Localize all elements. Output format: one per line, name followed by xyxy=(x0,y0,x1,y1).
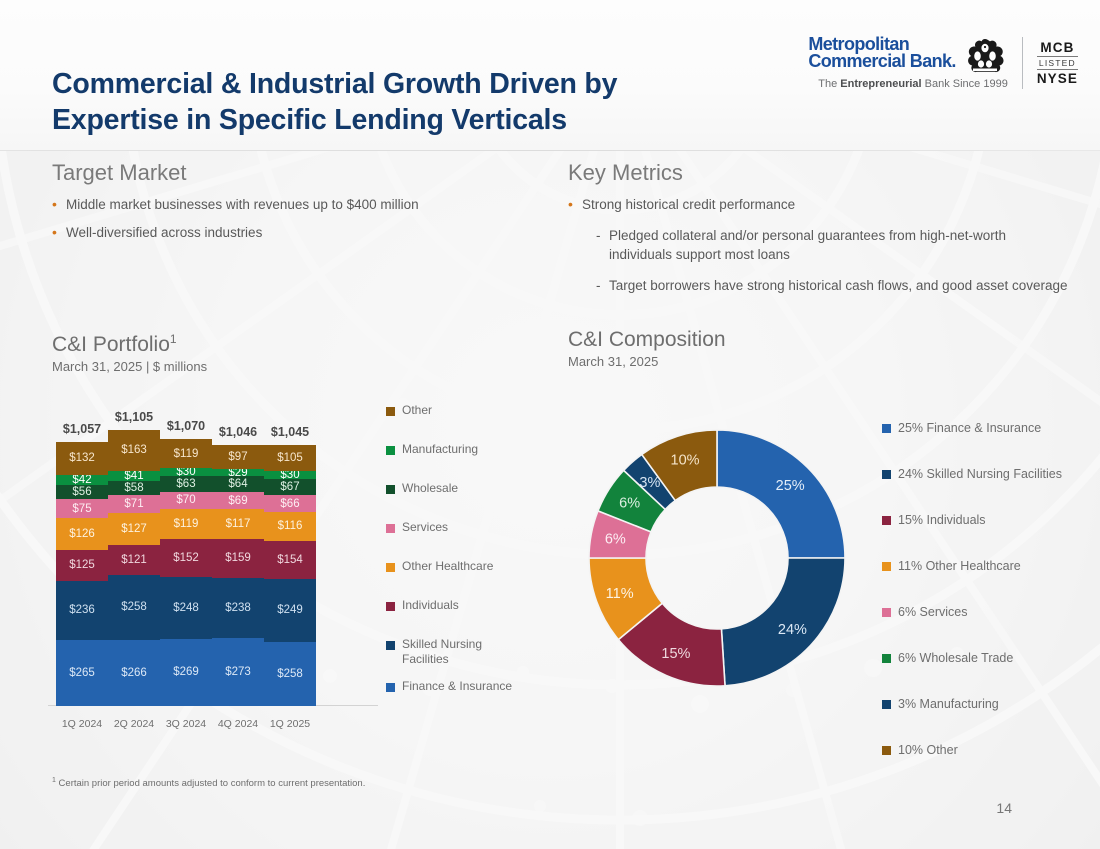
legend-swatch-icon xyxy=(882,470,891,479)
legend-item-label: 3% Manufacturing xyxy=(898,697,999,712)
bar-segment: $30 xyxy=(160,468,212,475)
bar-segment: $154 xyxy=(264,541,316,579)
target-market-bullet: • Middle market businesses with revenues… xyxy=(52,195,542,214)
footnote-text: Certain prior period amounts adjusted to… xyxy=(59,778,366,789)
key-metrics-bullet-text: Strong historical credit performance xyxy=(582,195,795,214)
legend-swatch-icon xyxy=(882,516,891,525)
page-number: 14 xyxy=(996,800,1012,816)
ci-portfolio-bar-chart: $1,057$132$42$56$75$126$125$236$2651Q 20… xyxy=(48,388,378,736)
bar-segment-label: $71 xyxy=(124,498,143,510)
target-market-bullet-text: Middle market businesses with revenues u… xyxy=(66,195,419,214)
bar-column: $1,070$119$30$63$70$119$152$248$269 xyxy=(160,439,212,706)
legend-item[interactable]: 3% Manufacturing xyxy=(882,697,1092,712)
target-market-bullet: • Well-diversified across industries xyxy=(52,223,542,242)
footnote: 1 Certain prior period amounts adjusted … xyxy=(52,777,365,789)
bar-segment: $266 xyxy=(108,640,160,706)
bar-segment-label: $265 xyxy=(69,667,95,679)
donut-chart-header: C&I Composition March 31, 2025 xyxy=(568,327,726,371)
bar-segment: $269 xyxy=(160,639,212,706)
bar-segment: $163 xyxy=(108,430,160,471)
bar-segment-label: $58 xyxy=(124,482,143,494)
bar-segment-label: $159 xyxy=(225,552,251,564)
donut-slice-label: 11% xyxy=(606,586,634,602)
legend-item[interactable]: Other Healthcare xyxy=(386,559,516,574)
legend-item-label: Other Healthcare xyxy=(402,559,493,574)
bar-segment-label: $117 xyxy=(226,518,251,530)
bar-segment-label: $119 xyxy=(174,518,199,530)
legend-item-label: Individuals xyxy=(402,598,459,613)
bar-segment-label: $266 xyxy=(121,667,147,679)
ticker-symbol: MCB xyxy=(1037,40,1078,55)
bar-segment-label: $105 xyxy=(277,452,303,464)
donut-slice-label: 6% xyxy=(605,532,626,548)
bar-chart-legend: OtherManufacturingWholesaleServicesOther… xyxy=(386,403,516,718)
logo-wordmark: Metropolitan Commercial Bank. xyxy=(808,36,1021,90)
bar-segment: $56 xyxy=(56,485,108,499)
bar-segment: $132 xyxy=(56,442,108,475)
bar-segment-label: $30 xyxy=(280,471,299,478)
legend-item[interactable]: Wholesale xyxy=(386,481,516,496)
bar-segment-label: $41 xyxy=(124,471,143,481)
bar-segment: $66 xyxy=(264,495,316,511)
bar-chart-title-text: C&I Portfolio xyxy=(52,333,170,356)
bar-chart-title-footnote-marker: 1 xyxy=(170,332,177,346)
legend-swatch-icon xyxy=(882,424,891,433)
brand-logo: Metropolitan Commercial Bank. xyxy=(808,36,1078,90)
bar-segment-label: $273 xyxy=(225,666,251,678)
bar-segment: $159 xyxy=(212,539,264,579)
key-metrics-sub-bullet-text: Target borrowers have strong historical … xyxy=(609,276,1068,295)
legend-item[interactable]: 15% Individuals xyxy=(882,513,1092,528)
bar-segment: $273 xyxy=(212,638,264,706)
bar-segment-label: $116 xyxy=(278,520,303,532)
legend-item-label: 25% Finance & Insurance xyxy=(898,421,1041,436)
donut-slice-label: 25% xyxy=(776,478,805,494)
bar-segment: $121 xyxy=(108,545,160,575)
donut-slice-label: 3% xyxy=(639,475,660,491)
logo-tagline-bold: Entrepreneurial xyxy=(840,78,921,90)
legend-item-label: Skilled Nursing Facilities xyxy=(402,637,516,667)
bar-segment: $71 xyxy=(108,495,160,513)
ticker-badge: MCB LISTED NYSE xyxy=(1023,40,1078,86)
bar-x-axis-label: 1Q 2025 xyxy=(250,718,330,730)
bar-segment-label: $125 xyxy=(69,559,95,571)
bullet-dash-icon: - xyxy=(596,226,609,264)
donut-slice xyxy=(717,430,845,558)
bar-column: $1,046$97$29$64$69$117$159$238$273 xyxy=(212,445,264,706)
bar-stack: $97$29$64$69$117$159$238$273 xyxy=(212,445,264,706)
legend-item[interactable]: Manufacturing xyxy=(386,442,516,457)
legend-swatch-icon xyxy=(882,700,891,709)
legend-swatch-icon xyxy=(386,563,395,572)
legend-item[interactable]: Skilled Nursing Facilities xyxy=(386,637,516,667)
bar-segment-label: $29 xyxy=(228,469,247,476)
legend-swatch-icon xyxy=(386,641,395,650)
bar-segment: $58 xyxy=(108,481,160,495)
page-title-line-1: Commercial & Industrial Growth Driven by xyxy=(52,66,692,102)
page-title: Commercial & Industrial Growth Driven by… xyxy=(52,66,692,138)
bar-segment: $30 xyxy=(264,471,316,478)
key-metrics-sub-bullet: - Target borrowers have strong historica… xyxy=(568,276,1068,295)
bar-segment-label: $30 xyxy=(176,468,195,475)
bar-segment-label: $236 xyxy=(69,604,95,616)
legend-swatch-icon xyxy=(386,602,395,611)
legend-item-label: 10% Other xyxy=(898,743,958,758)
bar-segment-label: $97 xyxy=(228,451,247,463)
bar-segment: $119 xyxy=(160,439,212,469)
bar-segment-label: $69 xyxy=(228,495,247,507)
legend-item-label: Manufacturing xyxy=(402,442,478,457)
bar-segment: $249 xyxy=(264,579,316,641)
donut-chart-subtitle: March 31, 2025 xyxy=(568,353,726,371)
donut-chart-title: C&I Composition xyxy=(568,327,726,352)
bar-segment-label: $126 xyxy=(69,528,95,540)
bar-segment: $97 xyxy=(212,445,264,469)
bar-segment: $42 xyxy=(56,475,108,485)
legend-item[interactable]: Finance & Insurance xyxy=(386,679,516,694)
bar-segment: $265 xyxy=(56,640,108,706)
bar-segment-label: $127 xyxy=(121,523,147,535)
legend-item[interactable]: 24% Skilled Nursing Facilities xyxy=(882,467,1092,482)
donut-chart-legend: 25% Finance & Insurance24% Skilled Nursi… xyxy=(882,421,1092,789)
bar-segment: $126 xyxy=(56,518,108,549)
legend-item[interactable]: 25% Finance & Insurance xyxy=(882,421,1092,436)
bar-segment-label: $258 xyxy=(121,601,147,613)
legend-item[interactable]: 6% Wholesale Trade xyxy=(882,651,1092,666)
legend-swatch-icon xyxy=(882,608,891,617)
bar-stack: $119$30$63$70$119$152$248$269 xyxy=(160,439,212,706)
bar-segment: $248 xyxy=(160,577,212,639)
legend-item-label: Wholesale xyxy=(402,481,458,496)
bar-segment: $152 xyxy=(160,539,212,577)
bar-segment: $29 xyxy=(212,469,264,476)
bar-segment-label: $121 xyxy=(121,554,147,566)
legend-item[interactable]: Other xyxy=(386,403,516,418)
legend-swatch-icon xyxy=(882,746,891,755)
target-market-heading: Target Market xyxy=(52,160,542,186)
bar-segment-label: $56 xyxy=(72,486,91,498)
legend-item-label: 24% Skilled Nursing Facilities xyxy=(898,467,1062,482)
bar-chart-title: C&I Portfolio1 xyxy=(52,327,207,357)
key-metrics-heading: Key Metrics xyxy=(568,160,1068,186)
bar-chart-subtitle: March 31, 2025 | $ millions xyxy=(52,358,207,376)
bullet-dot-icon: • xyxy=(52,195,66,214)
bar-segment: $258 xyxy=(264,642,316,706)
bullet-dot-icon: • xyxy=(568,195,582,214)
header-divider xyxy=(0,150,1100,151)
legend-swatch-icon xyxy=(386,407,395,416)
bar-segment-label: $163 xyxy=(121,444,147,456)
bar-segment: $119 xyxy=(160,509,212,539)
logo-tagline-suffix: Bank Since 1999 xyxy=(922,78,1008,90)
bar-segment: $41 xyxy=(108,471,160,481)
bar-segment-label: $75 xyxy=(72,503,91,515)
bar-segment: $75 xyxy=(56,499,108,518)
bar-segment-label: $249 xyxy=(277,604,303,616)
legend-swatch-icon xyxy=(386,446,395,455)
bar-total-label: $1,045 xyxy=(250,425,330,439)
bar-chart-header: C&I Portfolio1 March 31, 2025 | $ millio… xyxy=(52,327,207,376)
legend-item-label: Other xyxy=(402,403,432,418)
ticker-listed-label: LISTED xyxy=(1037,56,1078,70)
legend-item[interactable]: 6% Services xyxy=(882,605,1092,620)
bar-segment: $127 xyxy=(108,513,160,545)
legend-item-label: 6% Wholesale Trade xyxy=(898,651,1013,666)
bar-segment-label: $67 xyxy=(280,481,299,493)
bar-stack: $132$42$56$75$126$125$236$265 xyxy=(56,442,108,706)
page-title-line-2: Expertise in Specific Lending Verticals xyxy=(52,102,692,138)
legend-item-label: Finance & Insurance xyxy=(402,679,512,694)
bar-segment: $64 xyxy=(212,476,264,492)
bar-column: $1,105$163$41$58$71$127$121$258$266 xyxy=(108,430,160,706)
bullet-dash-icon: - xyxy=(596,276,609,295)
key-metrics-sub-bullet: - Pledged collateral and/or personal gua… xyxy=(568,226,1068,264)
bar-segment: $238 xyxy=(212,578,264,637)
legend-item-label: 11% Other Healthcare xyxy=(898,559,1021,574)
legend-item[interactable]: Individuals xyxy=(386,598,516,613)
legend-swatch-icon xyxy=(882,654,891,663)
legend-item-label: Services xyxy=(402,520,448,535)
legend-item-label: 6% Services xyxy=(898,605,967,620)
bar-segment-label: $63 xyxy=(176,478,195,490)
legend-item[interactable]: 10% Other xyxy=(882,743,1092,758)
bar-column: $1,057$132$42$56$75$126$125$236$265 xyxy=(56,442,108,706)
donut-slice-label: 10% xyxy=(671,453,700,469)
legend-swatch-icon xyxy=(386,524,395,533)
bar-segment: $116 xyxy=(264,512,316,541)
bar-stack: $163$41$58$71$127$121$258$266 xyxy=(108,430,160,706)
legend-swatch-icon xyxy=(386,683,395,692)
donut-slice-label: 24% xyxy=(778,622,807,638)
bar-segment-label: $42 xyxy=(72,475,91,485)
legend-item[interactable]: 11% Other Healthcare xyxy=(882,559,1092,574)
bar-segment: $258 xyxy=(108,575,160,639)
bar-segment: $105 xyxy=(264,445,316,471)
slide-canvas: Commercial & Industrial Growth Driven by… xyxy=(0,0,1100,849)
key-metrics-sub-bullet-text: Pledged collateral and/or personal guara… xyxy=(609,226,1068,264)
bar-segment-label: $258 xyxy=(277,668,303,680)
bar-segment: $117 xyxy=(212,509,264,538)
legend-item[interactable]: Services xyxy=(386,520,516,535)
logo-tagline-prefix: The xyxy=(818,78,840,90)
legend-swatch-icon xyxy=(882,562,891,571)
donut-slice-label: 15% xyxy=(661,646,690,662)
logo-name-line-2: Commercial Bank. xyxy=(808,53,955,70)
legend-item-label: 15% Individuals xyxy=(898,513,986,528)
bar-segment: $236 xyxy=(56,581,108,640)
bar-segment-label: $119 xyxy=(174,448,199,460)
target-market-section: Target Market • Middle market businesses… xyxy=(52,160,542,242)
legend-swatch-icon xyxy=(386,485,395,494)
target-market-bullet-text: Well-diversified across industries xyxy=(66,223,262,242)
footnote-marker: 1 xyxy=(52,777,56,784)
bar-segment: $69 xyxy=(212,492,264,509)
bar-segment-label: $152 xyxy=(173,552,199,564)
donut-slice-label: 6% xyxy=(619,496,640,512)
key-metrics-bullet: • Strong historical credit performance xyxy=(568,195,1068,214)
logo-tagline: The Entrepreneurial Bank Since 1999 xyxy=(808,78,1007,90)
bar-segment-label: $269 xyxy=(173,666,199,678)
bar-segment-label: $238 xyxy=(225,602,251,614)
key-metrics-section: Key Metrics • Strong historical credit p… xyxy=(568,160,1068,295)
ticker-exchange: NYSE xyxy=(1037,71,1078,86)
bar-segment: $125 xyxy=(56,550,108,581)
bar-segment: $67 xyxy=(264,479,316,496)
ci-composition-donut-chart: 25%24%15%11%6%6%3%10% xyxy=(583,424,851,692)
bar-segment-label: $248 xyxy=(173,602,199,614)
bar-segment-label: $64 xyxy=(228,478,247,490)
bar-segment: $63 xyxy=(160,476,212,492)
bar-segment-label: $132 xyxy=(69,452,95,464)
bar-segment-label: $66 xyxy=(280,498,299,510)
eagle-mark-icon xyxy=(962,36,1008,74)
bar-segment-label: $154 xyxy=(277,554,303,566)
bullet-dot-icon: • xyxy=(52,223,66,242)
bar-column: $1,045$105$30$67$66$116$154$249$258 xyxy=(264,445,316,706)
bar-segment: $70 xyxy=(160,492,212,509)
bar-stack: $105$30$67$66$116$154$249$258 xyxy=(264,445,316,706)
bar-segment-label: $70 xyxy=(176,494,195,506)
